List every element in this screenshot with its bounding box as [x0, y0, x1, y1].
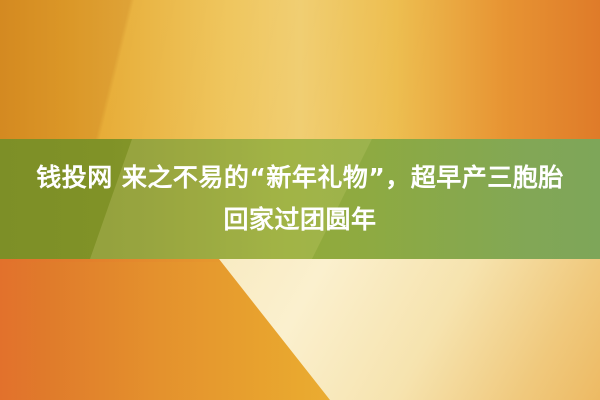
top-orange-band — [0, 0, 600, 139]
headline-line-2: 回家过团圆年 — [223, 199, 376, 241]
article-banner: 钱投网 来之不易的“新年礼物”，超早产三胞胎 回家过团圆年 — [0, 0, 600, 400]
bottom-band-cream-wedge — [0, 259, 600, 400]
headline-block: 钱投网 来之不易的“新年礼物”，超早产三胞胎 回家过团圆年 — [0, 139, 600, 259]
headline-line-1: 钱投网 来之不易的“新年礼物”，超早产三胞胎 — [36, 157, 564, 199]
bottom-orange-band — [0, 259, 600, 400]
top-band-diagonal-streak — [0, 0, 600, 139]
